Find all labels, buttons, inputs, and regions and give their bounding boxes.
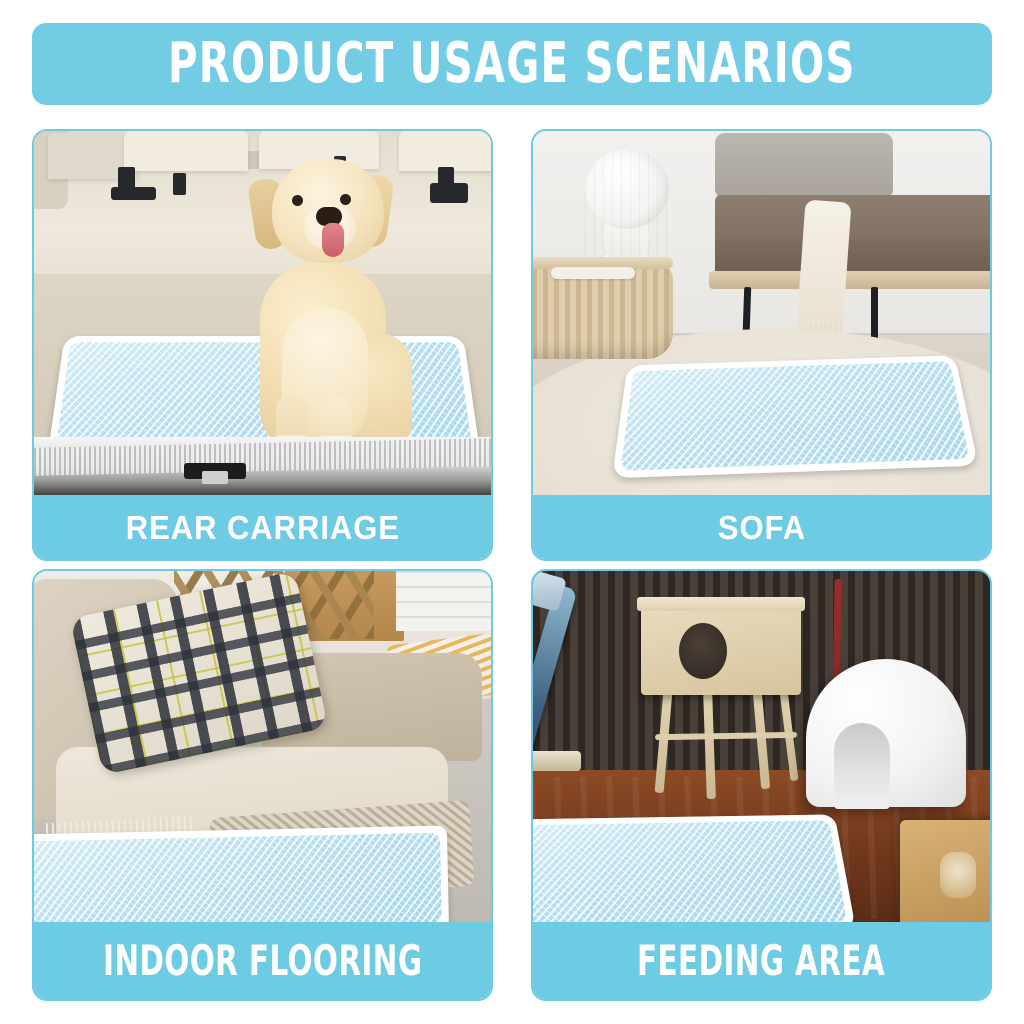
sofa-backrest bbox=[715, 133, 893, 199]
header-banner: PRODUCT USAGE SCENARIOS bbox=[32, 23, 992, 105]
sofa-wood-frame bbox=[709, 271, 990, 289]
pet-mat-quilted-surface bbox=[620, 361, 969, 470]
pet-mat bbox=[34, 826, 449, 926]
side-furniture-opening bbox=[940, 852, 976, 898]
sofa-seat-cushion-lower bbox=[715, 239, 990, 275]
page-title: PRODUCT USAGE SCENARIOS bbox=[168, 36, 856, 92]
puppy-eye-left bbox=[292, 195, 303, 206]
tiled-wall bbox=[396, 571, 491, 631]
trunk-sill bbox=[34, 437, 491, 499]
cat-house-entry-hole bbox=[679, 623, 727, 679]
igloo-entrance bbox=[834, 723, 890, 809]
sofa-throw-blanket bbox=[797, 200, 852, 333]
scene-indoor-flooring bbox=[34, 571, 491, 926]
scene-rear-carriage bbox=[34, 131, 491, 499]
trunk-latch-plate bbox=[202, 471, 228, 484]
card-label-band: FEEDING AREA bbox=[533, 922, 990, 999]
scene-sofa bbox=[533, 131, 990, 499]
scenario-card-feeding-area[interactable]: FEEDING AREA bbox=[531, 569, 992, 1001]
pet-mat-quilted-surface bbox=[34, 833, 442, 926]
seat-latch-clip bbox=[173, 173, 186, 195]
scene-feeding-area bbox=[533, 571, 990, 926]
card-label-rear-carriage: REAR CARRIAGE bbox=[125, 511, 399, 544]
card-label-feeding-area: FEEDING AREA bbox=[637, 940, 885, 982]
pet-mat bbox=[533, 814, 856, 926]
scenario-card-rear-carriage[interactable]: REAR CARRIAGE bbox=[32, 129, 493, 561]
seat-latch-clip bbox=[111, 187, 156, 200]
pet-mat-quilted-surface bbox=[533, 820, 847, 926]
seat-latch-clip bbox=[430, 183, 468, 203]
card-label-sofa: SOFA bbox=[717, 511, 805, 544]
scenario-card-indoor-flooring[interactable]: INDOOR FLOORING bbox=[32, 569, 493, 1001]
scenario-card-sofa[interactable]: SOFA bbox=[531, 129, 992, 561]
scenario-grid: REAR CARRIAGE bbox=[32, 129, 992, 1001]
pet-mat bbox=[612, 355, 978, 478]
pet-bowl bbox=[533, 751, 581, 771]
puppy-tongue bbox=[322, 223, 344, 257]
card-label-band: INDOOR FLOORING bbox=[34, 922, 491, 999]
basket-handle bbox=[551, 267, 635, 279]
product-infographic: PRODUCT USAGE SCENARIOS bbox=[0, 0, 1024, 1024]
card-label-indoor-flooring: INDOOR FLOORING bbox=[103, 940, 422, 982]
puppy-eye-right bbox=[340, 194, 351, 205]
puppy bbox=[230, 153, 416, 453]
card-label-band: SOFA bbox=[533, 495, 990, 559]
card-label-band: REAR CARRIAGE bbox=[34, 495, 491, 559]
cat-house-roof bbox=[637, 597, 805, 611]
